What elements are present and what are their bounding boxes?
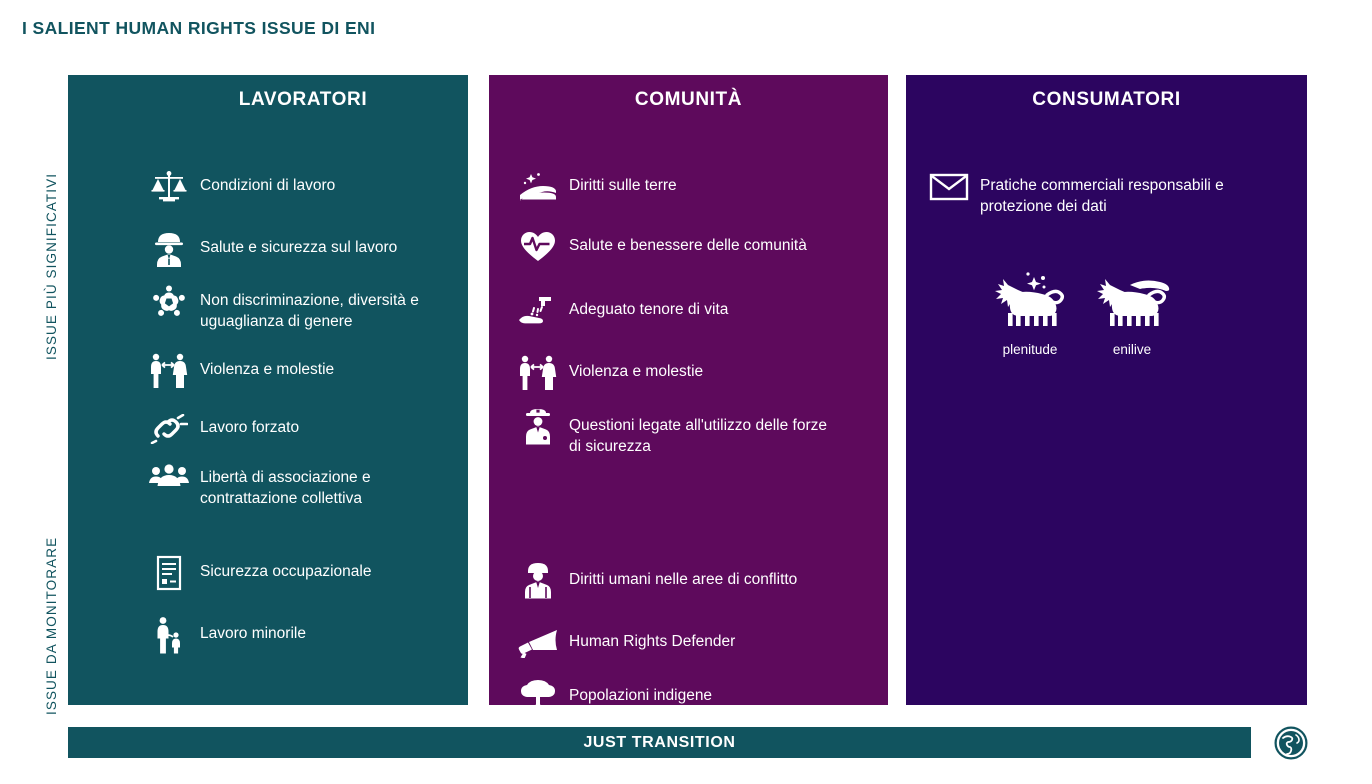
issue-item[interactable]: Questioni legate all'utilizzo delle forz…: [515, 407, 839, 457]
axis-label-monitor: ISSUE DA MONITORARE: [44, 537, 59, 715]
issue-item[interactable]: Violenza e molestie: [515, 353, 703, 393]
diversity-people-icon: [146, 282, 192, 322]
issue-label: Condizioni di lavoro: [192, 167, 335, 196]
megaphone-icon: [515, 623, 561, 663]
violence-harassment-icon: [515, 353, 561, 393]
heart-pulse-icon: [515, 227, 561, 267]
brand-logo-enilive: enilive: [1094, 271, 1170, 357]
column-consumatori: CONSUMATORI Pratiche commerciali respons…: [906, 75, 1307, 705]
issue-item[interactable]: Adeguato tenore di vita: [515, 291, 728, 331]
column-lavoratori: LAVORATORI Condizioni di lavoro: [68, 75, 468, 705]
brand-logo-row: plenitude: [992, 271, 1170, 357]
column-title-consumatori: CONSUMATORI: [906, 89, 1307, 111]
group-people-icon: [146, 459, 192, 499]
brand-logo-caption: enilive: [1113, 342, 1151, 357]
issue-label: Salute e benessere delle comunità: [561, 227, 807, 256]
issue-label: Adeguato tenore di vita: [561, 291, 728, 320]
issue-label: Questioni legate all'utilizzo delle forz…: [561, 407, 839, 457]
column-comunita: COMUNITÀ Diritti sulle terre: [489, 75, 888, 705]
issue-label: Diritti sulle terre: [561, 167, 677, 196]
hand-water-tap-icon: [515, 291, 561, 331]
issue-item[interactable]: Human Rights Defender: [515, 623, 735, 663]
issue-item[interactable]: Libertà di associazione e contrattazione…: [146, 459, 468, 509]
column-title-comunita: COMUNITÀ: [489, 89, 888, 111]
issue-item[interactable]: Diritti sulle terre: [515, 167, 677, 207]
brand-logo-caption: plenitude: [1003, 342, 1058, 357]
issue-label: Violenza e molestie: [561, 353, 703, 382]
issue-label: Diritti umani nelle aree di conflitto: [561, 561, 797, 590]
issue-item[interactable]: Diritti umani nelle aree di conflitto: [515, 561, 797, 601]
issue-label: Lavoro forzato: [192, 409, 299, 438]
issue-item[interactable]: Popolazioni indigene: [515, 677, 712, 717]
issue-label: Lavoro minorile: [192, 615, 306, 644]
broken-chain-icon: [146, 409, 192, 449]
page-title: I SALIENT HUMAN RIGHTS ISSUE DI ENI: [22, 18, 375, 39]
adult-child-icon: [146, 615, 192, 655]
issue-item[interactable]: Violenza e molestie: [146, 351, 334, 391]
soldier-conflict-icon: [515, 561, 561, 601]
issue-label: Pratiche commerciali responsabili e prot…: [972, 167, 1270, 217]
violence-harassment-icon: [146, 351, 192, 391]
security-officer-icon: [515, 407, 561, 447]
envelope-icon: [926, 167, 972, 207]
eni-six-legged-dog-icon: [1094, 271, 1170, 338]
issue-item[interactable]: Salute e sicurezza sul lavoro: [146, 229, 397, 269]
issue-item[interactable]: Lavoro minorile: [146, 615, 306, 655]
issue-item[interactable]: Non discriminazione, diversità e uguagli…: [146, 282, 468, 332]
issue-item[interactable]: Pratiche commerciali responsabili e prot…: [926, 167, 1270, 217]
scales-balance-icon: [146, 167, 192, 207]
document-checklist-icon: [146, 553, 192, 593]
issue-label: Libertà di associazione e contrattazione…: [192, 459, 468, 509]
issue-label: Human Rights Defender: [561, 623, 735, 652]
just-transition-bar: JUST TRANSITION: [68, 727, 1251, 758]
issue-item[interactable]: Sicurezza occupazionale: [146, 553, 371, 593]
issue-label: Salute e sicurezza sul lavoro: [192, 229, 397, 258]
globe-icon: [1274, 726, 1308, 760]
worker-helmet-icon: [146, 229, 192, 269]
issue-item[interactable]: Condizioni di lavoro: [146, 167, 335, 207]
issue-label: Non discriminazione, diversità e uguagli…: [192, 282, 468, 332]
just-transition-label: JUST TRANSITION: [583, 734, 735, 752]
issue-item[interactable]: Lavoro forzato: [146, 409, 299, 449]
issue-label: Violenza e molestie: [192, 351, 334, 380]
eni-six-legged-dog-icon: [992, 271, 1068, 338]
column-title-lavoratori: LAVORATORI: [68, 89, 468, 111]
issue-label: Popolazioni indigene: [561, 677, 712, 706]
issue-label: Sicurezza occupazionale: [192, 553, 371, 582]
axis-label-significant: ISSUE PIÙ SIGNIFICATIVI: [44, 173, 59, 360]
land-field-icon: [515, 167, 561, 207]
brand-logo-plenitude: plenitude: [992, 271, 1068, 357]
issue-item[interactable]: Salute e benessere delle comunità: [515, 227, 807, 267]
tree-roots-icon: [515, 677, 561, 717]
